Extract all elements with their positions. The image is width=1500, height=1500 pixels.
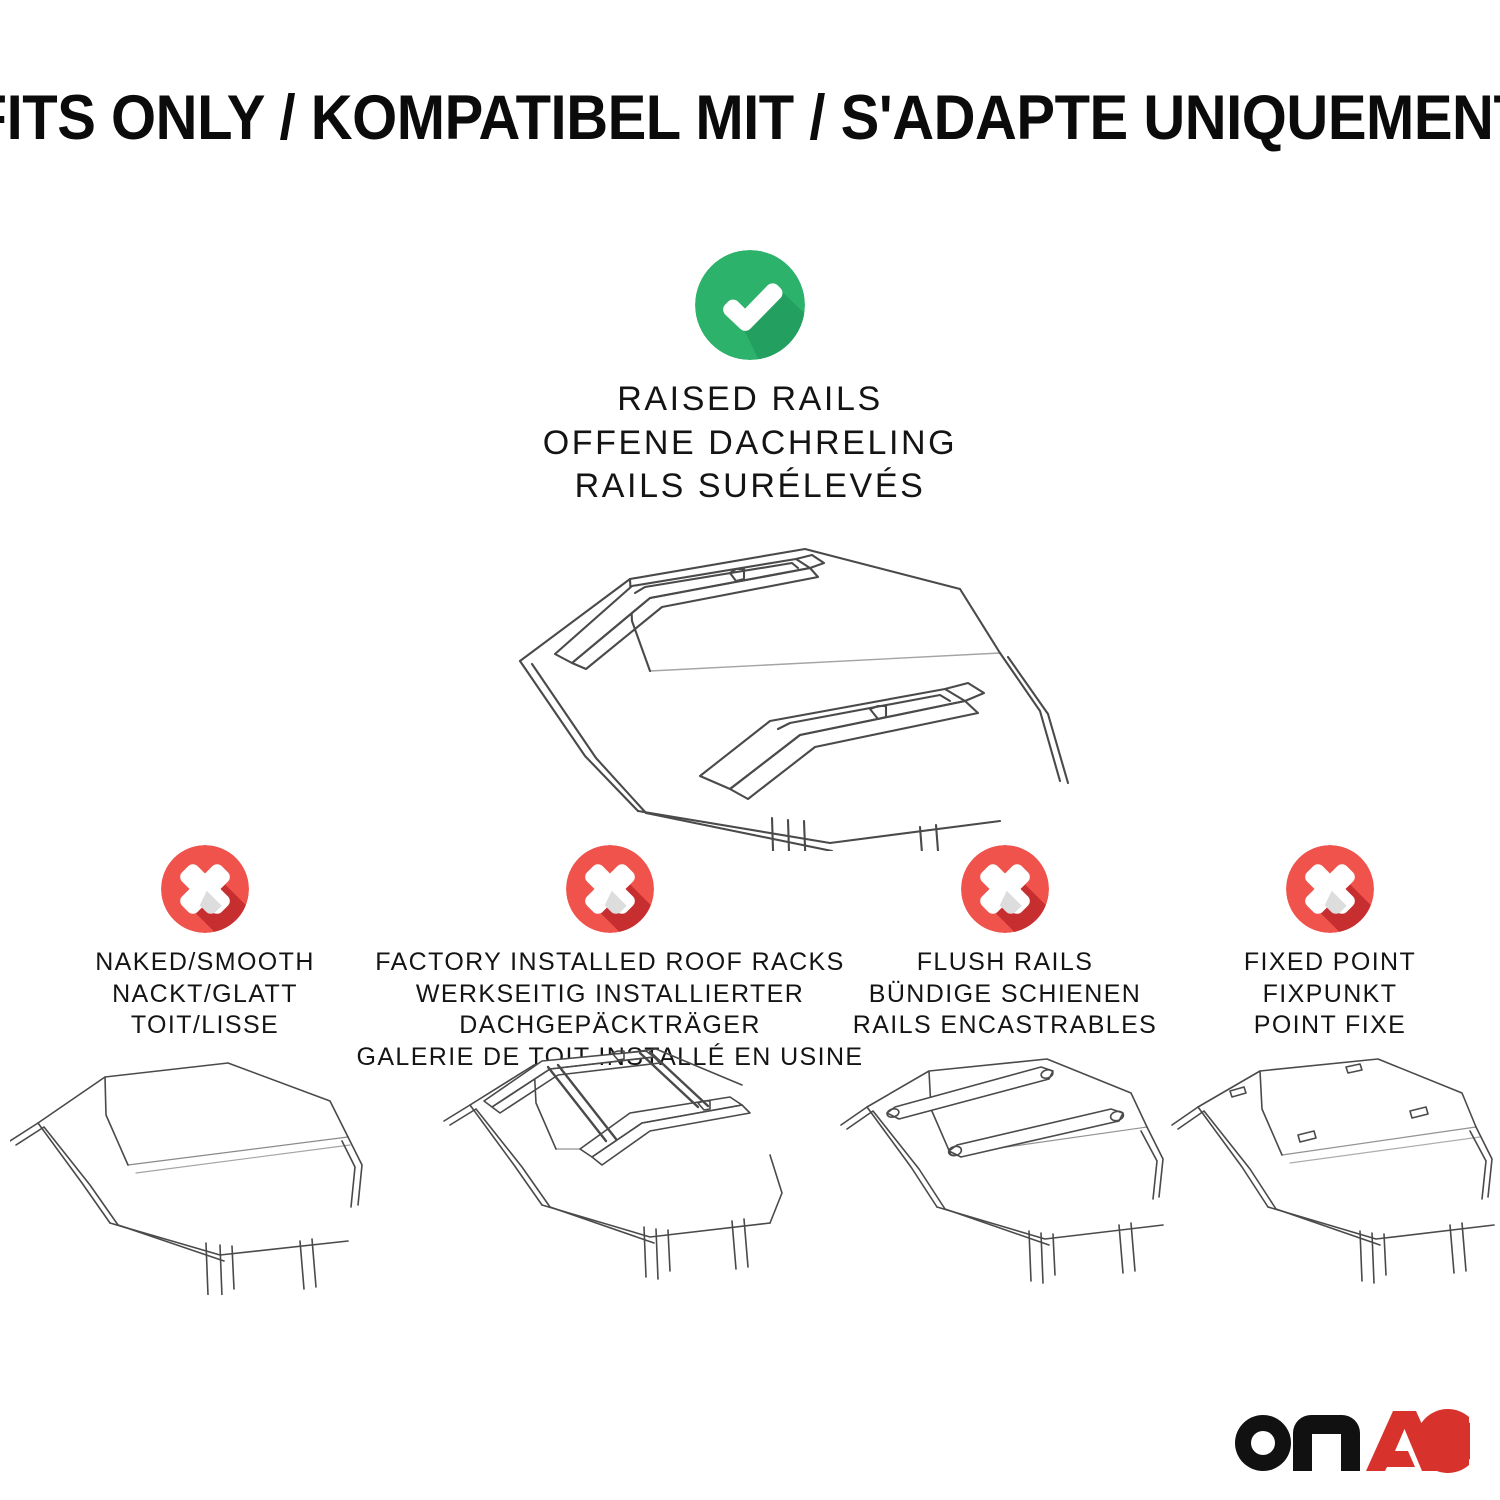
rejected-item-naked-smooth: NAKED/SMOOTH NACKT/GLATT TOIT/LISSE <box>20 845 390 1042</box>
rejected-item-fixed-point: FIXED POINT FIXPUNKT POINT FIXE <box>1180 845 1480 1042</box>
rejected-labels: FIXED POINT FIXPUNKT POINT FIXE <box>1244 947 1416 1042</box>
car-roof-naked-smooth-illustration <box>10 1045 370 1295</box>
rejected-label-en: FIXED POINT <box>1244 947 1416 979</box>
car-roof-fixed-point-illustration <box>1150 1045 1500 1295</box>
page-header: FITS ONLY / KOMPATIBEL MIT / S'ADAPTE UN… <box>0 0 1500 235</box>
rejected-label-de-1: WERKSEITIG INSTALLIERTER <box>357 979 864 1011</box>
rejected-label-de: BÜNDIGE SCHIENEN <box>853 979 1157 1011</box>
approved-label-fr: RAILS SURÉLEVÉS <box>543 465 957 509</box>
rejected-label-en: FLUSH RAILS <box>853 947 1157 979</box>
rejected-label-en: NAKED/SMOOTH <box>95 947 315 979</box>
page-title: FITS ONLY / KOMPATIBEL MIT / S'ADAPTE UN… <box>0 82 1500 154</box>
x-circle-icon <box>566 845 654 933</box>
rejected-label-de: FIXPUNKT <box>1244 979 1416 1011</box>
rejected-labels: NAKED/SMOOTH NACKT/GLATT TOIT/LISSE <box>95 947 315 1042</box>
omac-logo <box>1230 1403 1470 1475</box>
rejected-label-fr: POINT FIXE <box>1244 1010 1416 1042</box>
rejected-item-flush-rails: FLUSH RAILS BÜNDIGE SCHIENEN RAILS ENCAS… <box>830 845 1180 1042</box>
rejected-label-fr: TOIT/LISSE <box>95 1010 315 1042</box>
check-circle-icon <box>695 250 805 360</box>
rejected-label-fr: RAILS ENCASTRABLES <box>853 1010 1157 1042</box>
approved-label-en: RAISED RAILS <box>543 378 957 422</box>
x-circle-icon <box>1286 845 1374 933</box>
approved-label-de: OFFENE DACHRELING <box>543 422 957 466</box>
rejected-fitment-row: NAKED/SMOOTH NACKT/GLATT TOIT/LISSE <box>0 845 1500 1325</box>
car-roof-factory-rack-illustration <box>430 1045 790 1295</box>
x-circle-icon <box>161 845 249 933</box>
car-roof-raised-rails-illustration <box>400 521 1100 851</box>
x-circle-icon <box>961 845 1049 933</box>
approved-labels: RAISED RAILS OFFENE DACHRELING RAILS SUR… <box>543 378 957 509</box>
rejected-label-de: NACKT/GLATT <box>95 979 315 1011</box>
rejected-labels: FLUSH RAILS BÜNDIGE SCHIENEN RAILS ENCAS… <box>853 947 1157 1042</box>
approved-fitment-block: RAISED RAILS OFFENE DACHRELING RAILS SUR… <box>0 250 1500 851</box>
rejected-label-de-2: DACHGEPÄCKTRÄGER <box>357 1010 864 1042</box>
car-roof-flush-rails-illustration <box>825 1045 1185 1295</box>
rejected-item-factory-roof-racks: FACTORY INSTALLED ROOF RACKS WERKSEITIG … <box>390 845 830 1073</box>
rejected-label-en: FACTORY INSTALLED ROOF RACKS <box>357 947 864 979</box>
